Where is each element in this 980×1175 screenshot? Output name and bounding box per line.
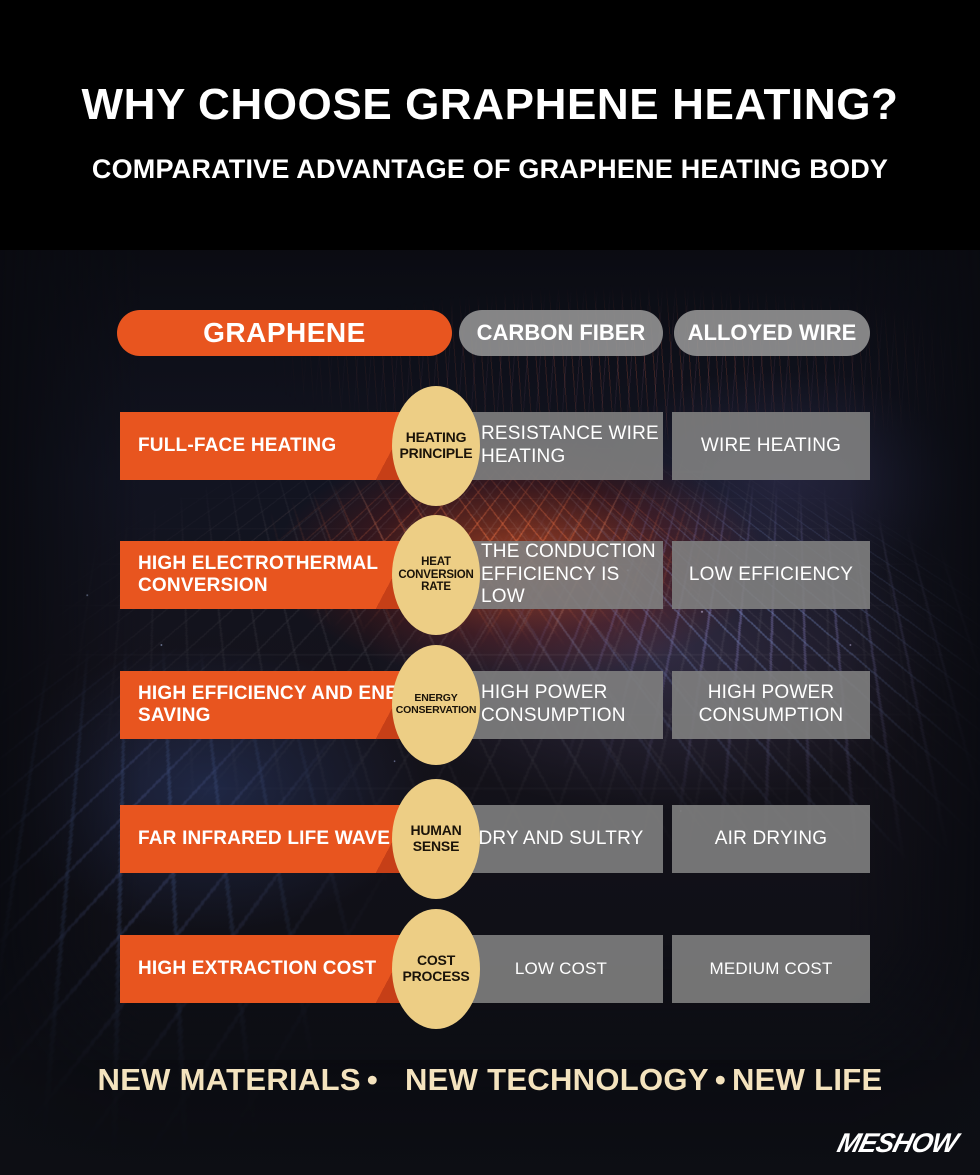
row-criterion-badge: ENERGYCONSERVATION — [392, 645, 480, 765]
row-alloyed-wire-cell[interactable]: AIR DRYING — [672, 805, 870, 873]
row-alloyed-wire-cell[interactable]: HIGH POWER CONSUMPTION — [672, 671, 870, 739]
column-header-graphene-label: GRAPHENE — [203, 317, 366, 349]
comparison-row: HIGH EXTRACTION COST COSTPROCESS LOW COS… — [0, 935, 980, 1003]
row-criterion-badge: HUMANSENSE — [392, 779, 480, 899]
footer-separator-1: • — [361, 1062, 384, 1097]
row-carbon-fiber-cell[interactable]: HIGH POWER CONSUMPTION — [459, 671, 663, 739]
infographic-content: WHY CHOOSE GRAPHENE HEATING? COMPARATIVE… — [0, 0, 980, 1175]
footer-part-3: NEW LIFE — [732, 1062, 883, 1097]
column-header-graphene[interactable]: GRAPHENE — [117, 310, 452, 356]
brand-logo: MESHOW — [834, 1128, 960, 1159]
column-header-row: GRAPHENE CARBON FIBER ALLOYED WIRE — [0, 310, 980, 356]
row-criterion-badge: HEATINGPRINCIPLE — [392, 386, 480, 506]
row-criterion-label: HEATINGPRINCIPLE — [400, 430, 473, 461]
row-alloyed-wire-cell[interactable]: MEDIUM COST — [672, 935, 870, 1003]
column-header-carbon-fiber[interactable]: CARBON FIBER — [459, 310, 663, 356]
row-criterion-label: HEATCONVERSIONRATE — [398, 556, 473, 595]
row-criterion-label: ENERGYCONSERVATION — [396, 693, 476, 717]
row-carbon-fiber-cell[interactable]: THE CONDUCTION EFFICIENCY IS LOW — [459, 541, 663, 609]
comparison-row: FULL-FACE HEATING HEATINGPRINCIPLE RESIS… — [0, 412, 980, 480]
row-carbon-fiber-text: LOW COST — [515, 959, 607, 979]
page-title: WHY CHOOSE GRAPHENE HEATING? — [0, 82, 980, 128]
column-header-carbon-fiber-label: CARBON FIBER — [477, 320, 646, 346]
row-alloyed-wire-text: HIGH POWER CONSUMPTION — [672, 682, 870, 728]
row-criterion-badge: HEATCONVERSIONRATE — [392, 515, 480, 635]
title-block: WHY CHOOSE GRAPHENE HEATING? COMPARATIVE… — [0, 82, 980, 185]
infographic-stage: WHY CHOOSE GRAPHENE HEATING? COMPARATIVE… — [0, 0, 980, 1175]
row-criterion-label: COSTPROCESS — [402, 953, 469, 984]
row-graphene-text: FULL-FACE HEATING — [138, 435, 336, 457]
row-carbon-fiber-text: DRY AND SULTRY — [478, 828, 643, 851]
row-carbon-fiber-cell[interactable]: LOW COST — [459, 935, 663, 1003]
row-carbon-fiber-cell[interactable]: DRY AND SULTRY — [459, 805, 663, 873]
row-alloyed-wire-text: AIR DRYING — [715, 828, 828, 851]
row-graphene-text: FAR INFRARED LIFE WAVE — [138, 828, 390, 850]
row-alloyed-wire-cell[interactable]: LOW EFFICIENCY — [672, 541, 870, 609]
footer-separator-2: • — [709, 1062, 732, 1097]
comparison-row: HIGH ELECTROTHERMAL CONVERSION HEATCONVE… — [0, 541, 980, 609]
row-alloyed-wire-cell[interactable]: WIRE HEATING — [672, 412, 870, 480]
row-alloyed-wire-text: MEDIUM COST — [709, 959, 832, 979]
row-criterion-label: HUMANSENSE — [410, 823, 461, 854]
comparison-row: HIGH EFFICIENCY AND ENERGY SAVING ENERGY… — [0, 671, 980, 739]
row-carbon-fiber-text: HIGH POWER CONSUMPTION — [481, 682, 663, 728]
footer-part-1: NEW MATERIALS — [98, 1062, 361, 1097]
row-carbon-fiber-text: THE CONDUCTION EFFICIENCY IS LOW — [481, 541, 663, 609]
footer-tagline: NEW MATERIALS• NEW TECHNOLOGY•NEW LIFE — [0, 1062, 980, 1098]
column-header-alloyed-wire-label: ALLOYED WIRE — [688, 320, 857, 346]
row-graphene-text: HIGH EXTRACTION COST — [138, 958, 376, 980]
row-alloyed-wire-text: LOW EFFICIENCY — [689, 564, 853, 587]
row-alloyed-wire-text: WIRE HEATING — [701, 435, 841, 458]
footer-part-2: NEW TECHNOLOGY — [405, 1062, 709, 1097]
column-header-alloyed-wire[interactable]: ALLOYED WIRE — [674, 310, 870, 356]
page-subtitle: COMPARATIVE ADVANTAGE OF GRAPHENE HEATIN… — [0, 154, 980, 185]
row-carbon-fiber-text: RESISTANCE WIRE HEATING — [481, 423, 663, 469]
comparison-row: FAR INFRARED LIFE WAVE HUMANSENSE DRY AN… — [0, 805, 980, 873]
row-criterion-badge: COSTPROCESS — [392, 909, 480, 1029]
row-carbon-fiber-cell[interactable]: RESISTANCE WIRE HEATING — [459, 412, 663, 480]
